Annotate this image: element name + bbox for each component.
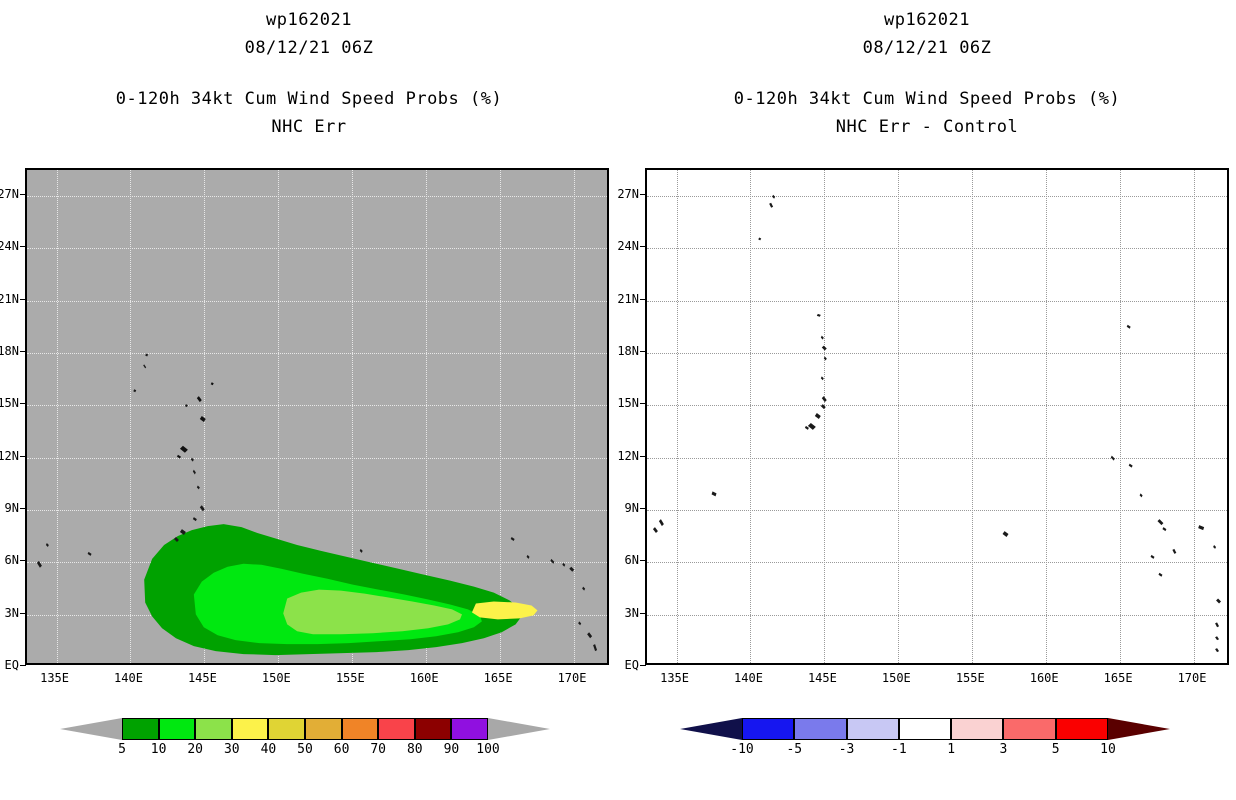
colorbar-label-probability-20: 20 [187,742,203,757]
colorbar-label-probability-100: 100 [476,742,499,757]
y-axis-tick-15N [640,403,646,404]
x-axis-label-160E: 160E [1030,671,1059,685]
y-axis-tick-27N [20,194,26,195]
y-axis-tick-12N [640,456,646,457]
y-axis-tick-24N [640,246,646,247]
y-axis-tick-9N [640,508,646,509]
y-axis-label-EQ: EQ [607,658,639,672]
y-axis-tick-21N [20,299,26,300]
x-axis-label-135E: 135E [660,671,689,685]
colorbar-band-difference-1[interactable] [794,718,846,740]
y-axis-tick-27N [640,194,646,195]
y-axis-label-21N: 21N [607,292,639,306]
x-axis-label-155E: 155E [956,671,985,685]
y-axis-label-18N: 18N [607,344,639,358]
colorbar-label-difference-3: 3 [1000,742,1008,757]
x-axis-label-170E: 170E [1178,671,1207,685]
colorbar-band-probability-3[interactable] [232,718,269,740]
colorbar-band-probability-4[interactable] [268,718,305,740]
x-axis-label-150E: 150E [882,671,911,685]
colorbar-label-difference--3: -3 [839,742,855,757]
x-axis-label-150E: 150E [262,671,291,685]
colorbar-label-difference-5: 5 [1052,742,1060,757]
y-axis-label-15N: 15N [0,396,19,410]
y-axis-tick-6N [20,560,26,561]
left-product-title: 0-120h 34kt Cum Wind Speed Probs (%) [0,89,618,109]
y-axis-label-27N: 27N [607,187,639,201]
x-axis-label-155E: 155E [336,671,365,685]
colorbar-band-difference-2[interactable] [847,718,899,740]
y-axis-tick-EQ [640,665,646,666]
y-axis-label-9N: 9N [0,501,19,515]
y-axis-tick-3N [640,613,646,614]
y-axis-label-9N: 9N [607,501,639,515]
y-axis-label-18N: 18N [0,344,19,358]
colorbar-band-probability-1[interactable] [159,718,196,740]
colorbar-label-probability-30: 30 [224,742,240,757]
colorbar-label-probability-80: 80 [407,742,423,757]
y-axis-label-3N: 3N [0,606,19,620]
y-axis-label-6N: 6N [0,553,19,567]
y-axis-label-12N: 12N [607,449,639,463]
colorbar-band-difference-4[interactable] [951,718,1003,740]
colorbar-band-probability-6[interactable] [342,718,379,740]
x-axis-label-170E: 170E [558,671,587,685]
right-product-title: 0-120h 34kt Cum Wind Speed Probs (%) [618,89,1236,109]
right-datetime: 08/12/21 06Z [618,38,1236,58]
x-axis-label-160E: 160E [410,671,439,685]
y-axis-tick-EQ [20,665,26,666]
colorbar-band-probability-7[interactable] [378,718,415,740]
colorbar-label-difference--5: -5 [786,742,802,757]
y-axis-label-27N: 27N [0,187,19,201]
colorbar-label-probability-10: 10 [151,742,167,757]
y-axis-label-12N: 12N [0,449,19,463]
plume-coastline-overlay [27,170,607,663]
right-source-title: NHC Err - Control [618,117,1236,137]
y-axis-label-24N: 24N [0,239,19,253]
colorbar-label-probability-60: 60 [334,742,350,757]
colorbar-label-difference--10: -10 [730,742,753,757]
colorbar-band-probability-2[interactable] [195,718,232,740]
colorbar-label-probability-40: 40 [261,742,277,757]
x-axis-label-140E: 140E [734,671,763,685]
panel-nhc-err: wp162021 08/12/21 06Z 0-120h 34kt Cum Wi… [0,0,618,800]
y-axis-label-3N: 3N [607,606,639,620]
y-axis-tick-12N [20,456,26,457]
colorbar-band-probability-9[interactable] [451,718,488,740]
colorbar-label-probability-70: 70 [370,742,386,757]
y-axis-tick-24N [20,246,26,247]
y-axis-tick-21N [640,299,646,300]
y-axis-tick-15N [20,403,26,404]
y-axis-label-24N: 24N [607,239,639,253]
left-datetime: 08/12/21 06Z [0,38,618,58]
colorbar-band-difference-5[interactable] [1003,718,1055,740]
y-axis-tick-18N [20,351,26,352]
colorbar-cap-high-probability [488,718,550,740]
x-axis-label-145E: 145E [188,671,217,685]
panel-nhc-err-control: wp162021 08/12/21 06Z 0-120h 34kt Cum Wi… [618,0,1236,800]
y-axis-tick-6N [640,560,646,561]
colorbar-band-difference-3[interactable] [899,718,951,740]
probability-colorbar[interactable]: 5102030405060708090100 [60,718,550,740]
left-storm-id: wp162021 [0,10,618,30]
x-axis-label-145E: 145E [808,671,837,685]
colorbar-label-probability-50: 50 [297,742,313,757]
y-axis-tick-3N [20,613,26,614]
colorbar-label-probability-5: 5 [118,742,126,757]
coastline-overlay-right [647,170,1227,663]
x-axis-label-135E: 135E [40,671,69,685]
y-axis-label-EQ: EQ [0,658,19,672]
colorbar-cap-high-difference [1108,718,1170,740]
y-axis-label-21N: 21N [0,292,19,306]
colorbar-label-difference-1: 1 [947,742,955,757]
colorbar-band-probability-5[interactable] [305,718,342,740]
map-plot-nhc-err[interactable] [25,168,609,665]
right-storm-id: wp162021 [618,10,1236,30]
colorbar-band-difference-6[interactable] [1056,718,1108,740]
x-axis-label-165E: 165E [484,671,513,685]
colorbar-band-probability-0[interactable] [122,718,159,740]
colorbar-band-difference-0[interactable] [742,718,794,740]
colorbar-label-difference--1: -1 [891,742,907,757]
y-axis-label-15N: 15N [607,396,639,410]
y-axis-tick-9N [20,508,26,509]
colorbar-band-probability-8[interactable] [415,718,452,740]
y-axis-label-6N: 6N [607,553,639,567]
map-plot-difference[interactable] [645,168,1229,665]
x-axis-label-140E: 140E [114,671,143,685]
x-axis-label-165E: 165E [1104,671,1133,685]
difference-colorbar[interactable]: -10-5-3-113510 [680,718,1170,740]
colorbar-label-probability-90: 90 [444,742,460,757]
y-axis-tick-18N [640,351,646,352]
colorbar-cap-low-difference [680,718,742,740]
colorbar-cap-low-probability [60,718,122,740]
colorbar-label-difference-10: 10 [1100,742,1116,757]
left-source-title: NHC Err [0,117,618,137]
